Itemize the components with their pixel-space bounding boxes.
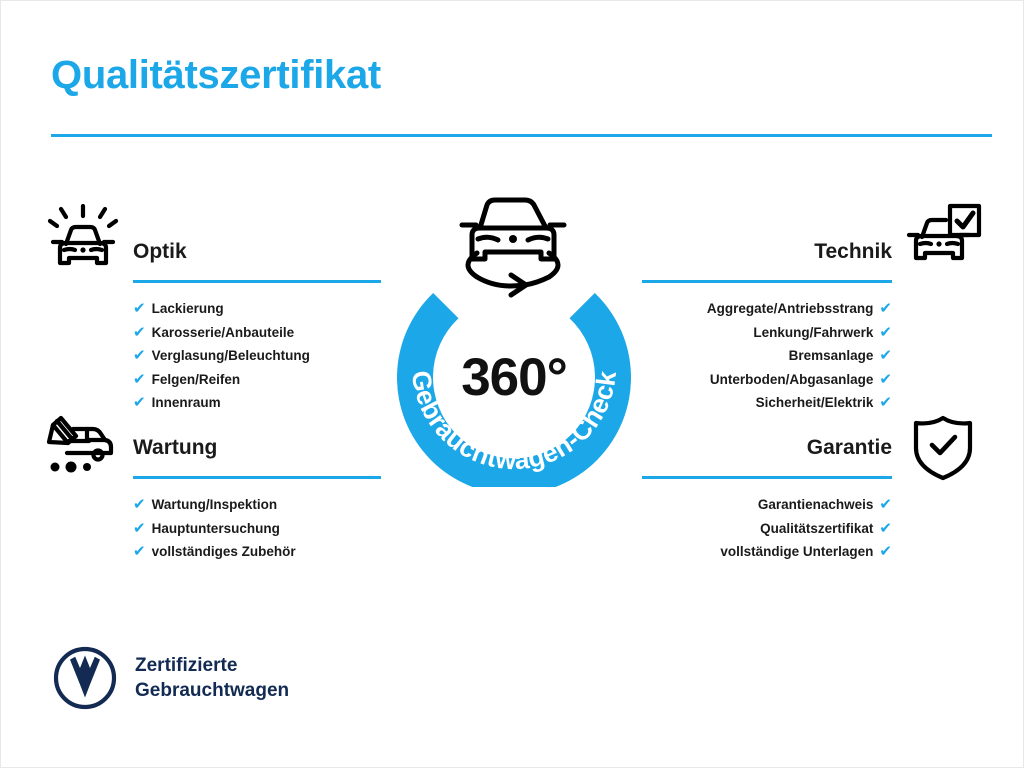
checklist-item-label: Sicherheit/Elektrik	[756, 391, 874, 415]
check-icon: ✔	[879, 391, 892, 415]
check-icon: ✔	[133, 517, 146, 541]
checklist-item: ✔Lackierung	[133, 297, 381, 321]
car-front-checkbox-icon	[906, 203, 982, 274]
check-icon: ✔	[879, 517, 892, 541]
section-garantie-title: Garantie	[642, 435, 892, 461]
checklist-item: Sicherheit/Elektrik✔	[642, 391, 892, 415]
checklist-item: vollständige Unterlagen✔	[642, 540, 892, 564]
check-icon: ✔	[133, 297, 146, 321]
checklist-item: ✔Hauptuntersuchung	[133, 517, 381, 541]
section-technik-title: Technik	[642, 239, 892, 265]
check-icon: ✔	[133, 540, 146, 564]
checklist-item-label: Lenkung/Fahrwerk	[753, 321, 873, 345]
page-title: Qualitätszertifikat	[51, 53, 381, 98]
check-icon: ✔	[879, 344, 892, 368]
check-icon: ✔	[879, 540, 892, 564]
check-icon: ✔	[133, 391, 146, 415]
shield-check-icon	[912, 415, 974, 486]
vw-text-line-1: Zertifizierte	[135, 653, 289, 678]
section-garantie: Garantie Garantienachweis✔Qualitätszerti…	[642, 435, 892, 564]
section-garantie-list: Garantienachweis✔Qualitätszertifikat✔vol…	[642, 493, 892, 564]
section-garantie-divider	[642, 476, 892, 479]
section-optik-title: Optik	[133, 239, 381, 265]
check-icon: ✔	[133, 493, 146, 517]
section-technik-header: Technik	[642, 239, 892, 283]
checklist-item-label: Aggregate/Antriebsstrang	[707, 297, 874, 321]
section-optik: Optik ✔Lackierung✔Karosserie/Anbauteile✔…	[133, 239, 381, 415]
checklist-item: ✔vollständiges Zubehör	[133, 540, 381, 564]
checklist-item-label: Unterboden/Abgasanlage	[710, 368, 874, 392]
checklist-item: ✔Felgen/Reifen	[133, 368, 381, 392]
checklist-item: ✔Verglasung/Beleuchtung	[133, 344, 381, 368]
section-optik-divider	[133, 280, 381, 283]
checklist-item-label: Hauptuntersuchung	[152, 517, 280, 541]
section-wartung: Wartung ✔Wartung/Inspektion✔Hauptuntersu…	[133, 435, 381, 564]
title-divider	[51, 134, 992, 137]
checklist-item: ✔Innenraum	[133, 391, 381, 415]
checklist-item-label: Lackierung	[152, 297, 224, 321]
car-front-rotate-icon	[453, 187, 575, 299]
checklist-item: ✔Karosserie/Anbauteile	[133, 321, 381, 345]
check-icon: ✔	[879, 297, 892, 321]
section-optik-header: Optik	[133, 239, 381, 283]
checklist-item-label: Garantienachweis	[758, 493, 874, 517]
checklist-item: Bremsanlage✔	[642, 344, 892, 368]
vw-logo	[53, 646, 117, 710]
checklist-item-label: Karosserie/Anbauteile	[152, 321, 295, 345]
section-technik: Technik Aggregate/Antriebsstrang✔Lenkung…	[642, 239, 892, 415]
check-icon: ✔	[879, 321, 892, 345]
check-icon: ✔	[133, 321, 146, 345]
checklist-item: Qualitätszertifikat✔	[642, 517, 892, 541]
check-icon: ✔	[879, 368, 892, 392]
checklist-item-label: Felgen/Reifen	[152, 368, 241, 392]
check-icon: ✔	[879, 493, 892, 517]
checklist-item: Garantienachweis✔	[642, 493, 892, 517]
checklist-item: ✔Wartung/Inspektion	[133, 493, 381, 517]
check-icon: ✔	[133, 368, 146, 392]
section-garantie-header: Garantie	[642, 435, 892, 479]
section-wartung-header: Wartung	[133, 435, 381, 479]
vw-text-line-2: Gebrauchtwagen	[135, 678, 289, 703]
checklist-item: Aggregate/Antriebsstrang✔	[642, 297, 892, 321]
section-wartung-list: ✔Wartung/Inspektion✔Hauptuntersuchung✔vo…	[133, 493, 381, 564]
checklist-item-label: Bremsanlage	[789, 344, 874, 368]
pencil-car-service-icon	[43, 415, 119, 482]
certificate-page: Qualitätszertifikat	[0, 0, 1024, 768]
checklist-item-label: vollständiges Zubehör	[152, 540, 296, 564]
check-icon: ✔	[133, 344, 146, 368]
section-technik-list: Aggregate/Antriebsstrang✔Lenkung/Fahrwer…	[642, 297, 892, 415]
vw-certified-lockup: Zertifizierte Gebrauchtwagen	[53, 646, 289, 710]
checklist-item: Lenkung/Fahrwerk✔	[642, 321, 892, 345]
checklist-item-label: Wartung/Inspektion	[152, 493, 278, 517]
badge-360-check: Gebrauchtwagen-Check 360°	[376, 187, 652, 487]
section-wartung-title: Wartung	[133, 435, 381, 461]
section-optik-list: ✔Lackierung✔Karosserie/Anbauteile✔Vergla…	[133, 297, 381, 415]
checklist-item-label: Innenraum	[152, 391, 221, 415]
car-front-shine-icon	[47, 204, 119, 279]
checklist-item-label: Verglasung/Beleuchtung	[152, 344, 310, 368]
section-wartung-divider	[133, 476, 381, 479]
checklist-item-label: Qualitätszertifikat	[760, 517, 873, 541]
vw-certified-text: Zertifizierte Gebrauchtwagen	[135, 653, 289, 703]
section-technik-divider	[642, 280, 892, 283]
badge-center-label: 360°	[376, 347, 652, 408]
checklist-item: Unterboden/Abgasanlage✔	[642, 368, 892, 392]
checklist-item-label: vollständige Unterlagen	[720, 540, 873, 564]
